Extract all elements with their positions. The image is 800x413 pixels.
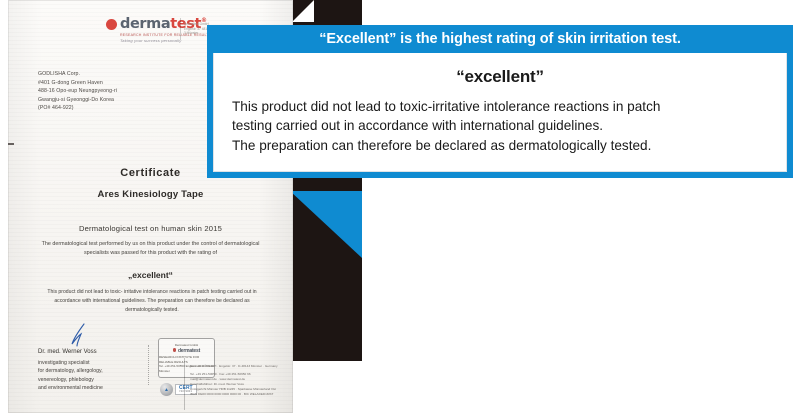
address-line: (PO# 464-922) xyxy=(38,104,117,113)
callout-header-text: “Excellent” is the highest rating of ski… xyxy=(207,25,793,53)
page-edge-mark xyxy=(8,143,14,145)
callout-paragraph: This product did not lead to toxic-irrit… xyxy=(232,97,768,155)
callout-paragraph-line: The preparation can therefore be declare… xyxy=(232,136,768,155)
seal-brand: dermatest xyxy=(173,348,200,356)
recipient-address: GODLISHA Corp. #401 G-dong Green Haven 4… xyxy=(38,70,117,113)
address-line: #401 G-dong Green Haven xyxy=(38,79,117,88)
doctor-name: Dr. med. Werner Voss xyxy=(38,348,143,358)
doctor-qualification-line: investigating specialist xyxy=(38,359,143,367)
doctor-qualification-line: and environmental medicine xyxy=(38,384,143,392)
callout-body: “excellent” This product did not lead to… xyxy=(213,53,787,172)
address-line: 488-16 Opo-eup Neungpyeong-ri xyxy=(38,87,117,96)
seal-sub-text: RESEARCH INSTITUTE FOR RELIABLE RESULTS xyxy=(159,355,214,364)
doctor-qualification-line: for dermatology, allergology, xyxy=(38,367,143,375)
product-name: Ares Kinesiology Tape xyxy=(8,189,293,200)
callout-paragraph-line: testing carried out in accordance with i… xyxy=(232,116,768,135)
address-line: GODLISHA Corp. xyxy=(38,70,117,79)
dark-band-corner-notch xyxy=(292,0,314,22)
address-line: Gwangju-si Gyeonggi-Do Korea xyxy=(38,96,117,105)
footer-divider xyxy=(184,358,186,410)
logo-text-derma: derma xyxy=(120,16,170,32)
footer-contact: Dermatest® GmbH · Engelstr. 37 · D-48143… xyxy=(190,364,293,397)
callout-rating-label: “excellent” xyxy=(232,67,768,87)
test-description: The dermatological test performed by us … xyxy=(38,240,263,258)
highlight-callout: “Excellent” is the highest rating of ski… xyxy=(207,25,793,178)
logo-tagline-secondary: Taking your success personally xyxy=(120,38,212,43)
doctor-divider xyxy=(148,345,150,385)
doctor-qualification-line: venereology, phlebology xyxy=(38,376,143,384)
screenshot-root: dermatest® RESEARCH INSTITUTE FOR RELIAB… xyxy=(0,0,800,413)
footer-contact-head: Dermatest® GmbH · Engelstr. 37 · D-48143… xyxy=(190,364,293,369)
doctor-block: Dr. med. Werner Voss investigating speci… xyxy=(38,348,143,392)
triangle-mark-icon: ▲ xyxy=(160,383,173,396)
footer-contact-line: IBAN DE00 0000 0000 0000 0000 00 · BIC W… xyxy=(190,392,293,397)
callout-paragraph-line: This product did not lead to toxic-irrit… xyxy=(232,99,660,114)
test-title: Dermatological test on human skin 2015 xyxy=(8,224,293,233)
logo-divider xyxy=(180,18,181,40)
certificate-statement: This product did not lead to toxic- irri… xyxy=(38,288,266,315)
red-dot-icon xyxy=(106,19,117,30)
certificate-rating: „excellent“ xyxy=(8,270,293,280)
seal-dot-icon xyxy=(173,348,177,352)
